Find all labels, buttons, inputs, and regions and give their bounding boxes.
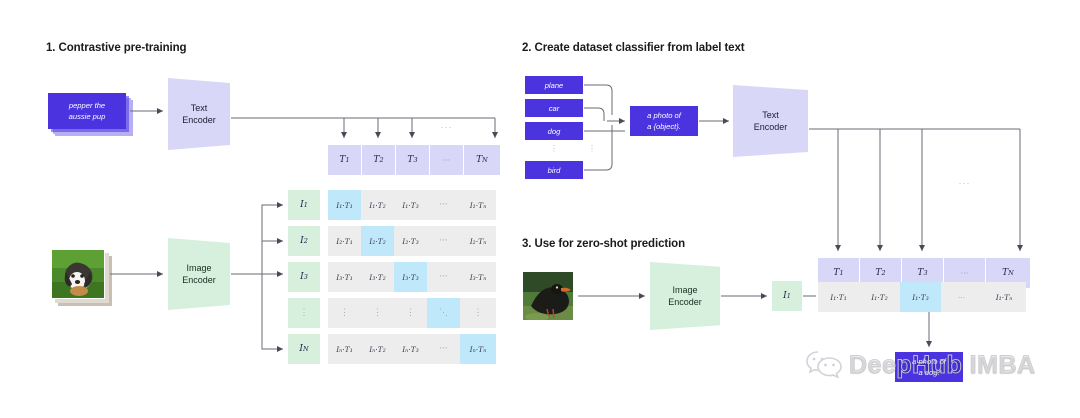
image-encoder-s3-line1: Image bbox=[672, 284, 697, 296]
bird-photo-svg bbox=[523, 272, 574, 321]
query-image-thumbnail bbox=[522, 271, 574, 321]
zero-shot-score-cell-1: I₁·T₁ bbox=[818, 282, 859, 312]
similarity-cell-r5-c5: Iₙ·Tₙ bbox=[460, 334, 496, 364]
text-embedding-cell-n: TN bbox=[464, 145, 500, 175]
puppy-photo-svg bbox=[52, 250, 105, 299]
caption-line-2: aussie pup bbox=[69, 111, 106, 122]
text-encoder-s1: Text Encoder bbox=[168, 78, 230, 150]
zero-shot-score-cell-5: I₁·Tₙ bbox=[982, 282, 1026, 312]
t3-sub: 3 bbox=[413, 156, 417, 164]
image-embedding-cell-n: IN bbox=[288, 334, 320, 364]
s3-i1-sub: 1 bbox=[787, 292, 791, 300]
class-label-box-dog: dog bbox=[525, 122, 583, 140]
similarity-cell-r4-c5: ⋮ bbox=[460, 298, 496, 328]
section-2-title: 2. Create dataset classifier from label … bbox=[522, 42, 745, 54]
query-image-embedding: I1 bbox=[772, 281, 802, 311]
image-embedding-cell-2: I2 bbox=[288, 226, 320, 256]
text-encoder-label-line2: Encoder bbox=[182, 114, 216, 126]
class-label-box-car: car bbox=[525, 99, 583, 117]
s2-tn-sub: N bbox=[1008, 269, 1014, 277]
similarity-cell-r2-c3: I₂·T₃ bbox=[394, 226, 427, 256]
similarity-cell-r5-c2: Iₙ·T₂ bbox=[361, 334, 394, 364]
similarity-cell-r3-c4: ··· bbox=[427, 262, 460, 292]
image-encoder-s3: Image Encoder bbox=[650, 262, 720, 330]
similarity-cell-r5-c4: ··· bbox=[427, 334, 460, 364]
text-embedding-cell-2: T2 bbox=[362, 145, 395, 175]
similarity-cell-r5-c1: Iₙ·T₁ bbox=[328, 334, 361, 364]
class-label-box-plane: plane bbox=[525, 76, 583, 94]
similarity-cell-r5-c3: Iₙ·T₃ bbox=[394, 334, 427, 364]
image-encoder-s3-line2: Encoder bbox=[668, 296, 702, 308]
similarity-cell-r4-c4: ⋱ bbox=[427, 298, 460, 328]
watermark-text: DeepHub IMBA bbox=[849, 353, 1036, 378]
section-3-title: 3. Use for zero-shot prediction bbox=[522, 238, 685, 250]
s2-t1-sub: 1 bbox=[839, 269, 843, 277]
caption-line-1: pepper the bbox=[69, 100, 105, 111]
similarity-cell-r1-c1: I₁·T₁ bbox=[328, 190, 361, 220]
caption-text-box: pepper the aussie pup bbox=[48, 93, 126, 129]
text-embedding-cell-ellipsis: ··· bbox=[430, 145, 463, 175]
i3-sub: 3 bbox=[304, 273, 308, 281]
i1-sub: 1 bbox=[304, 201, 308, 209]
text-embedding-cell-1: T1 bbox=[328, 145, 361, 175]
prompt-line-2: a {object}. bbox=[647, 121, 681, 132]
text-encoder-s2-line1: Text bbox=[762, 109, 779, 121]
text-encoder-s2: Text Encoder bbox=[733, 85, 808, 157]
tn-sub: N bbox=[482, 156, 488, 164]
similarity-cell-r1-c5: I₁·Tₙ bbox=[460, 190, 496, 220]
similarity-cell-r1-c3: I₁·T₃ bbox=[394, 190, 427, 220]
image-embedding-cell-1: I1 bbox=[288, 190, 320, 220]
in-sub: N bbox=[303, 345, 309, 353]
image-embedding-cell-vdots: ⋮ bbox=[288, 298, 320, 328]
prompt-template-box: a photo of a {object}. bbox=[630, 106, 698, 136]
similarity-cell-r3-c5: I₃·Tₙ bbox=[460, 262, 496, 292]
image-encoder-label-line2: Encoder bbox=[182, 274, 216, 286]
t1-sub: 1 bbox=[345, 156, 349, 164]
text-encoder-s2-line2: Encoder bbox=[754, 121, 788, 133]
similarity-cell-r4-c1: ⋮ bbox=[328, 298, 361, 328]
image-encoder-s1: Image Encoder bbox=[168, 238, 230, 310]
i2-sub: 2 bbox=[304, 237, 308, 245]
training-image-thumbnail bbox=[51, 249, 105, 299]
similarity-cell-r2-c1: I₂·T₁ bbox=[328, 226, 361, 256]
section-1-title: 1. Contrastive pre-training bbox=[46, 42, 186, 54]
similarity-cell-r3-c3: I₃·T₃ bbox=[394, 262, 427, 292]
class-label-vdots-right: ⋮ bbox=[563, 145, 621, 153]
s2-t2-sub: 2 bbox=[881, 269, 885, 277]
t2-sub: 2 bbox=[379, 156, 383, 164]
similarity-cell-r1-c4: ··· bbox=[427, 190, 460, 220]
s2-t3-sub: 3 bbox=[923, 269, 927, 277]
similarity-cell-r2-c4: ··· bbox=[427, 226, 460, 256]
zero-shot-score-cell-4: ··· bbox=[941, 282, 982, 312]
zero-shot-score-cell-2: I₁·T₂ bbox=[859, 282, 900, 312]
similarity-cell-r4-c2: ⋮ bbox=[361, 298, 394, 328]
clip-diagram-canvas: 1. Contrastive pre-training 2. Create da… bbox=[0, 0, 1080, 418]
text-embedding-cell-3: T3 bbox=[396, 145, 429, 175]
text-encoder-label-line1: Text bbox=[191, 102, 208, 114]
similarity-cell-r3-c1: I₃·T₁ bbox=[328, 262, 361, 292]
image-encoder-label-line1: Image bbox=[186, 262, 211, 274]
classifier-arrow-ellipsis: ··· bbox=[944, 178, 985, 188]
similarity-cell-r3-c2: I₃·T₂ bbox=[361, 262, 394, 292]
similarity-cell-r4-c3: ⋮ bbox=[394, 298, 427, 328]
similarity-cell-r2-c2: I₂·T₂ bbox=[361, 226, 394, 256]
similarity-cell-r2-c5: I₂·Tₙ bbox=[460, 226, 496, 256]
zero-shot-score-cell-3: I₁·T₃ bbox=[900, 282, 941, 312]
class-label-box-bird: bird bbox=[525, 161, 583, 179]
text-arrow-ellipsis: ··· bbox=[430, 122, 463, 132]
wechat-icon bbox=[805, 348, 843, 383]
wechat-watermark: DeepHub IMBA bbox=[805, 348, 1036, 383]
similarity-cell-r1-c2: I₁·T₂ bbox=[361, 190, 394, 220]
prompt-line-1: a photo of bbox=[647, 110, 681, 121]
image-embedding-cell-3: I3 bbox=[288, 262, 320, 292]
